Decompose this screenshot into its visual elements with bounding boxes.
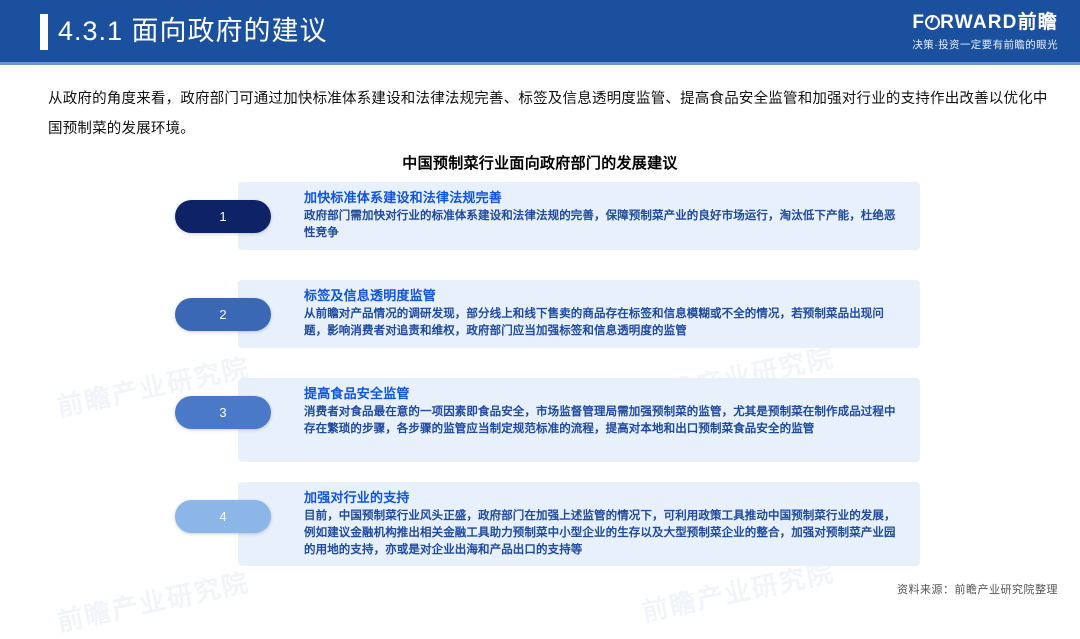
list-item[interactable]: 加快标准体系建设和法律法规完善 政府部门需加快对行业的标准体系建设和法律法规的完… <box>238 182 920 250</box>
list-item-content: 加快标准体系建设和法律法规完善 政府部门需加快对行业的标准体系建设和法律法规的完… <box>304 188 902 242</box>
list-item-body: 政府部门需加快对行业的标准体系建设和法律法规的完善，保障预制菜产业的良好市场运行… <box>304 208 902 242</box>
intro-paragraph: 从政府的角度来看，政府部门可通过加快标准体系建设和法律法规完善、标签及信息透明度… <box>48 84 1048 144</box>
forward-ring-icon <box>925 15 940 30</box>
list-item[interactable]: 加强对行业的支持 目前，中国预制菜行业风头正盛，政府部门在加强上述监管的情况下，… <box>238 482 920 566</box>
watermark-text: 前瞻产业研究院 <box>53 562 252 639</box>
list-item-content: 提高食品安全监管 消费者对食品最在意的一项因素即食品安全，市场监督管理局需加强预… <box>304 384 902 438</box>
page-title: 4.3.1 面向政府的建议 <box>58 11 328 51</box>
logo-wordmark: FRWARD前瞻 <box>912 12 1058 34</box>
header-accent-bar <box>40 14 48 50</box>
list-item-body: 消费者对食品最在意的一项因素即食品安全，市场监督管理局需加强预制菜的监管，尤其是… <box>304 404 902 438</box>
brand-logo: FRWARD前瞻 决策·投资一定要有前瞻的眼光 <box>912 12 1058 52</box>
logo-tagline: 决策·投资一定要有前瞻的眼光 <box>912 37 1058 52</box>
list-item-heading: 加快标准体系建设和法律法规完善 <box>304 188 902 207</box>
list-item-heading: 加强对行业的支持 <box>304 488 902 507</box>
list-item-number-badge: 2 <box>175 298 271 331</box>
chart-title: 中国预制菜行业面向政府部门的发展建议 <box>0 152 1080 173</box>
list-item-number-badge: 3 <box>175 396 271 429</box>
logo-suffix-text: RWARD前瞻 <box>940 12 1058 33</box>
list-item-body: 从前瞻对产品情况的调研发现，部分线上和线下售卖的商品存在标签和信息模糊或不全的情… <box>304 306 902 340</box>
recommendation-list: 前瞻产业研究院 前瞻产业研究院 前瞻产业研究院 前瞻产业研究院 加快标准体系建设… <box>0 182 1080 572</box>
list-item-number-badge: 1 <box>175 200 271 233</box>
list-item-content: 加强对行业的支持 目前，中国预制菜行业风头正盛，政府部门在加强上述监管的情况下，… <box>304 488 902 559</box>
list-item-content: 标签及信息透明度监管 从前瞻对产品情况的调研发现，部分线上和线下售卖的商品存在标… <box>304 286 902 340</box>
list-item[interactable]: 标签及信息透明度监管 从前瞻对产品情况的调研发现，部分线上和线下售卖的商品存在标… <box>238 280 920 348</box>
list-item-heading: 标签及信息透明度监管 <box>304 286 902 305</box>
list-item-heading: 提高食品安全监管 <box>304 384 902 403</box>
list-item-number-badge: 4 <box>175 500 271 533</box>
list-item[interactable]: 提高食品安全监管 消费者对食品最在意的一项因素即食品安全，市场监督管理局需加强预… <box>238 378 920 462</box>
source-note: 资料来源：前瞻产业研究院整理 <box>897 581 1058 597</box>
list-item-body: 目前，中国预制菜行业风头正盛，政府部门在加强上述监管的情况下，可利用政策工具推动… <box>304 508 902 559</box>
logo-prefix-text: F <box>912 12 925 33</box>
page-header: 4.3.1 面向政府的建议 FRWARD前瞻 决策·投资一定要有前瞻的眼光 <box>0 0 1080 65</box>
